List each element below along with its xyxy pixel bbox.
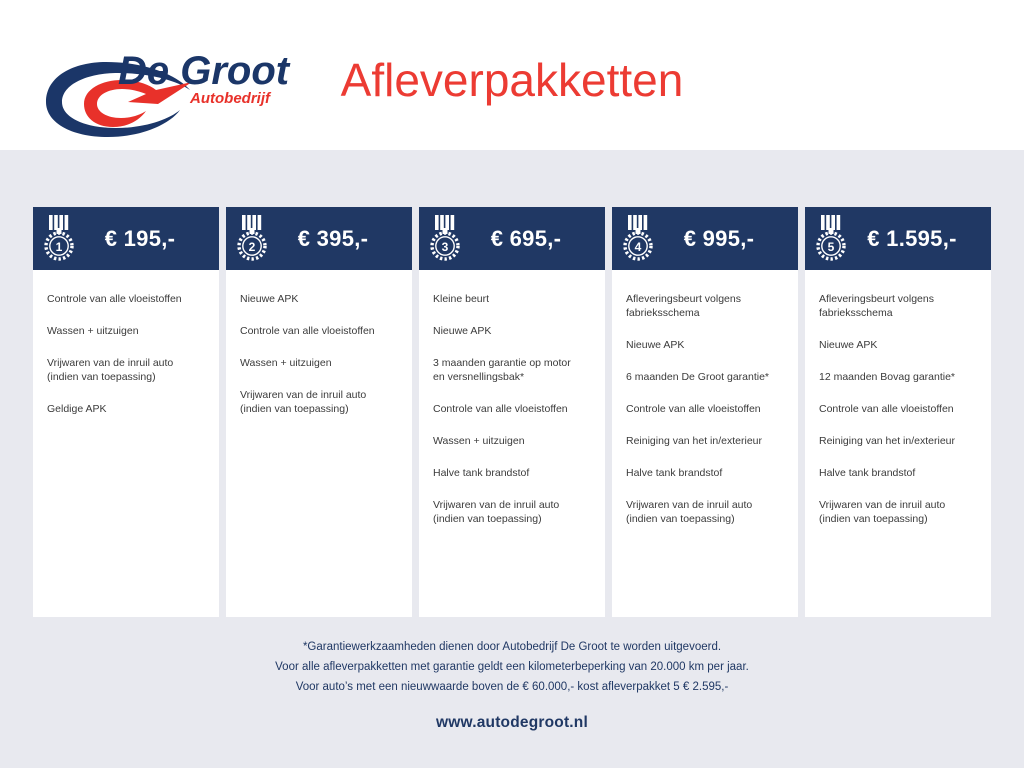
package-card-3[interactable]: 3 € 695,- Kleine beurt Nieuwe APK 3 maan… [419, 207, 605, 617]
package-card-2[interactable]: 2 € 395,- Nieuwe APK Controle van alle v… [226, 207, 412, 617]
package-price: € 695,- [463, 226, 593, 252]
package-price: € 995,- [656, 226, 786, 252]
medal-icon: 2 [236, 214, 270, 264]
feature-item: Kleine beurt [433, 292, 591, 306]
package-header-4: 4 € 995,- [612, 207, 798, 270]
feature-item: Wassen + uitzuigen [433, 434, 591, 448]
feature-item: Reiniging van het in/exterieur [819, 434, 977, 448]
package-features-5: Afleveringsbeurt volgens fabrieksschema … [805, 270, 991, 617]
package-price: € 195,- [77, 226, 207, 252]
feature-item: Vrijwaren van de inruil auto (indien van… [819, 498, 977, 526]
medal-icon: 5 [815, 214, 849, 264]
feature-item: Vrijwaren van de inruil auto (indien van… [626, 498, 784, 526]
page-title: Afleverpakketten [0, 50, 1024, 110]
medal-icon: 3 [429, 214, 463, 264]
package-header-1: 1 € 195,- [33, 207, 219, 270]
medal-icon: 4 [622, 214, 656, 264]
package-features-1: Controle van alle vloeistoffen Wassen + … [33, 270, 219, 617]
feature-item: Nieuwe APK [433, 324, 591, 338]
medal-icon: 1 [43, 214, 77, 264]
feature-item: Nieuwe APK [626, 338, 784, 352]
package-features-3: Kleine beurt Nieuwe APK 3 maanden garant… [419, 270, 605, 617]
package-price: € 1.595,- [849, 226, 979, 252]
feature-item: 3 maanden garantie op motor en versnelli… [433, 356, 591, 384]
feature-item: Controle van alle vloeistoffen [433, 402, 591, 416]
medal-number: 5 [828, 240, 835, 254]
feature-item: Vrijwaren van de inruil auto (indien van… [240, 388, 398, 416]
package-header-5: 5 € 1.595,- [805, 207, 991, 270]
feature-item: 6 maanden De Groot garantie* [626, 370, 784, 384]
feature-item: Afleveringsbeurt volgens fabrieksschema [819, 292, 977, 320]
package-card-4[interactable]: 4 € 995,- Afleveringsbeurt volgens fabri… [612, 207, 798, 617]
package-card-1[interactable]: 1 € 195,- Controle van alle vloeistoffen… [33, 207, 219, 617]
feature-item: Vrijwaren van de inruil auto (indien van… [47, 356, 205, 384]
feature-item: 12 maanden Bovag garantie* [819, 370, 977, 384]
package-card-row: 1 € 195,- Controle van alle vloeistoffen… [33, 207, 991, 617]
feature-item: Geldige APK [47, 402, 205, 416]
feature-item: Wassen + uitzuigen [47, 324, 205, 338]
package-price: € 395,- [270, 226, 400, 252]
medal-number: 1 [56, 240, 63, 254]
feature-item: Controle van alle vloeistoffen [819, 402, 977, 416]
footer-disclaimer-line-2: Voor alle afleverpakketten met garantie … [0, 657, 1024, 677]
website-url[interactable]: www.autodegroot.nl [0, 714, 1024, 732]
medal-number: 3 [442, 240, 449, 254]
feature-item: Wassen + uitzuigen [240, 356, 398, 370]
feature-item: Nieuwe APK [819, 338, 977, 352]
package-card-5[interactable]: 5 € 1.595,- Afleveringsbeurt volgens fab… [805, 207, 991, 617]
feature-item: Halve tank brandstof [626, 466, 784, 480]
package-features-2: Nieuwe APK Controle van alle vloeistoffe… [226, 270, 412, 617]
feature-item: Controle van alle vloeistoffen [626, 402, 784, 416]
package-features-4: Afleveringsbeurt volgens fabrieksschema … [612, 270, 798, 617]
package-header-2: 2 € 395,- [226, 207, 412, 270]
feature-item: Afleveringsbeurt volgens fabrieksschema [626, 292, 784, 320]
feature-item: Vrijwaren van de inruil auto (indien van… [433, 498, 591, 526]
feature-item: Reiniging van het in/exterieur [626, 434, 784, 448]
medal-number: 2 [249, 240, 256, 254]
footer-disclaimer-line-3: Voor auto’s met een nieuwwaarde boven de… [0, 677, 1024, 697]
footer-disclaimer-line-1: *Garantiewerkzaamheden dienen door Autob… [0, 637, 1024, 657]
feature-item: Nieuwe APK [240, 292, 398, 306]
medal-number: 4 [635, 240, 642, 254]
feature-item: Controle van alle vloeistoffen [240, 324, 398, 338]
feature-item: Halve tank brandstof [819, 466, 977, 480]
footer: *Garantiewerkzaamheden dienen door Autob… [0, 637, 1024, 732]
feature-item: Controle van alle vloeistoffen [47, 292, 205, 306]
package-header-3: 3 € 695,- [419, 207, 605, 270]
header-band: De Groot Autobedrijf Afleverpakketten [0, 0, 1024, 150]
feature-item: Halve tank brandstof [433, 466, 591, 480]
